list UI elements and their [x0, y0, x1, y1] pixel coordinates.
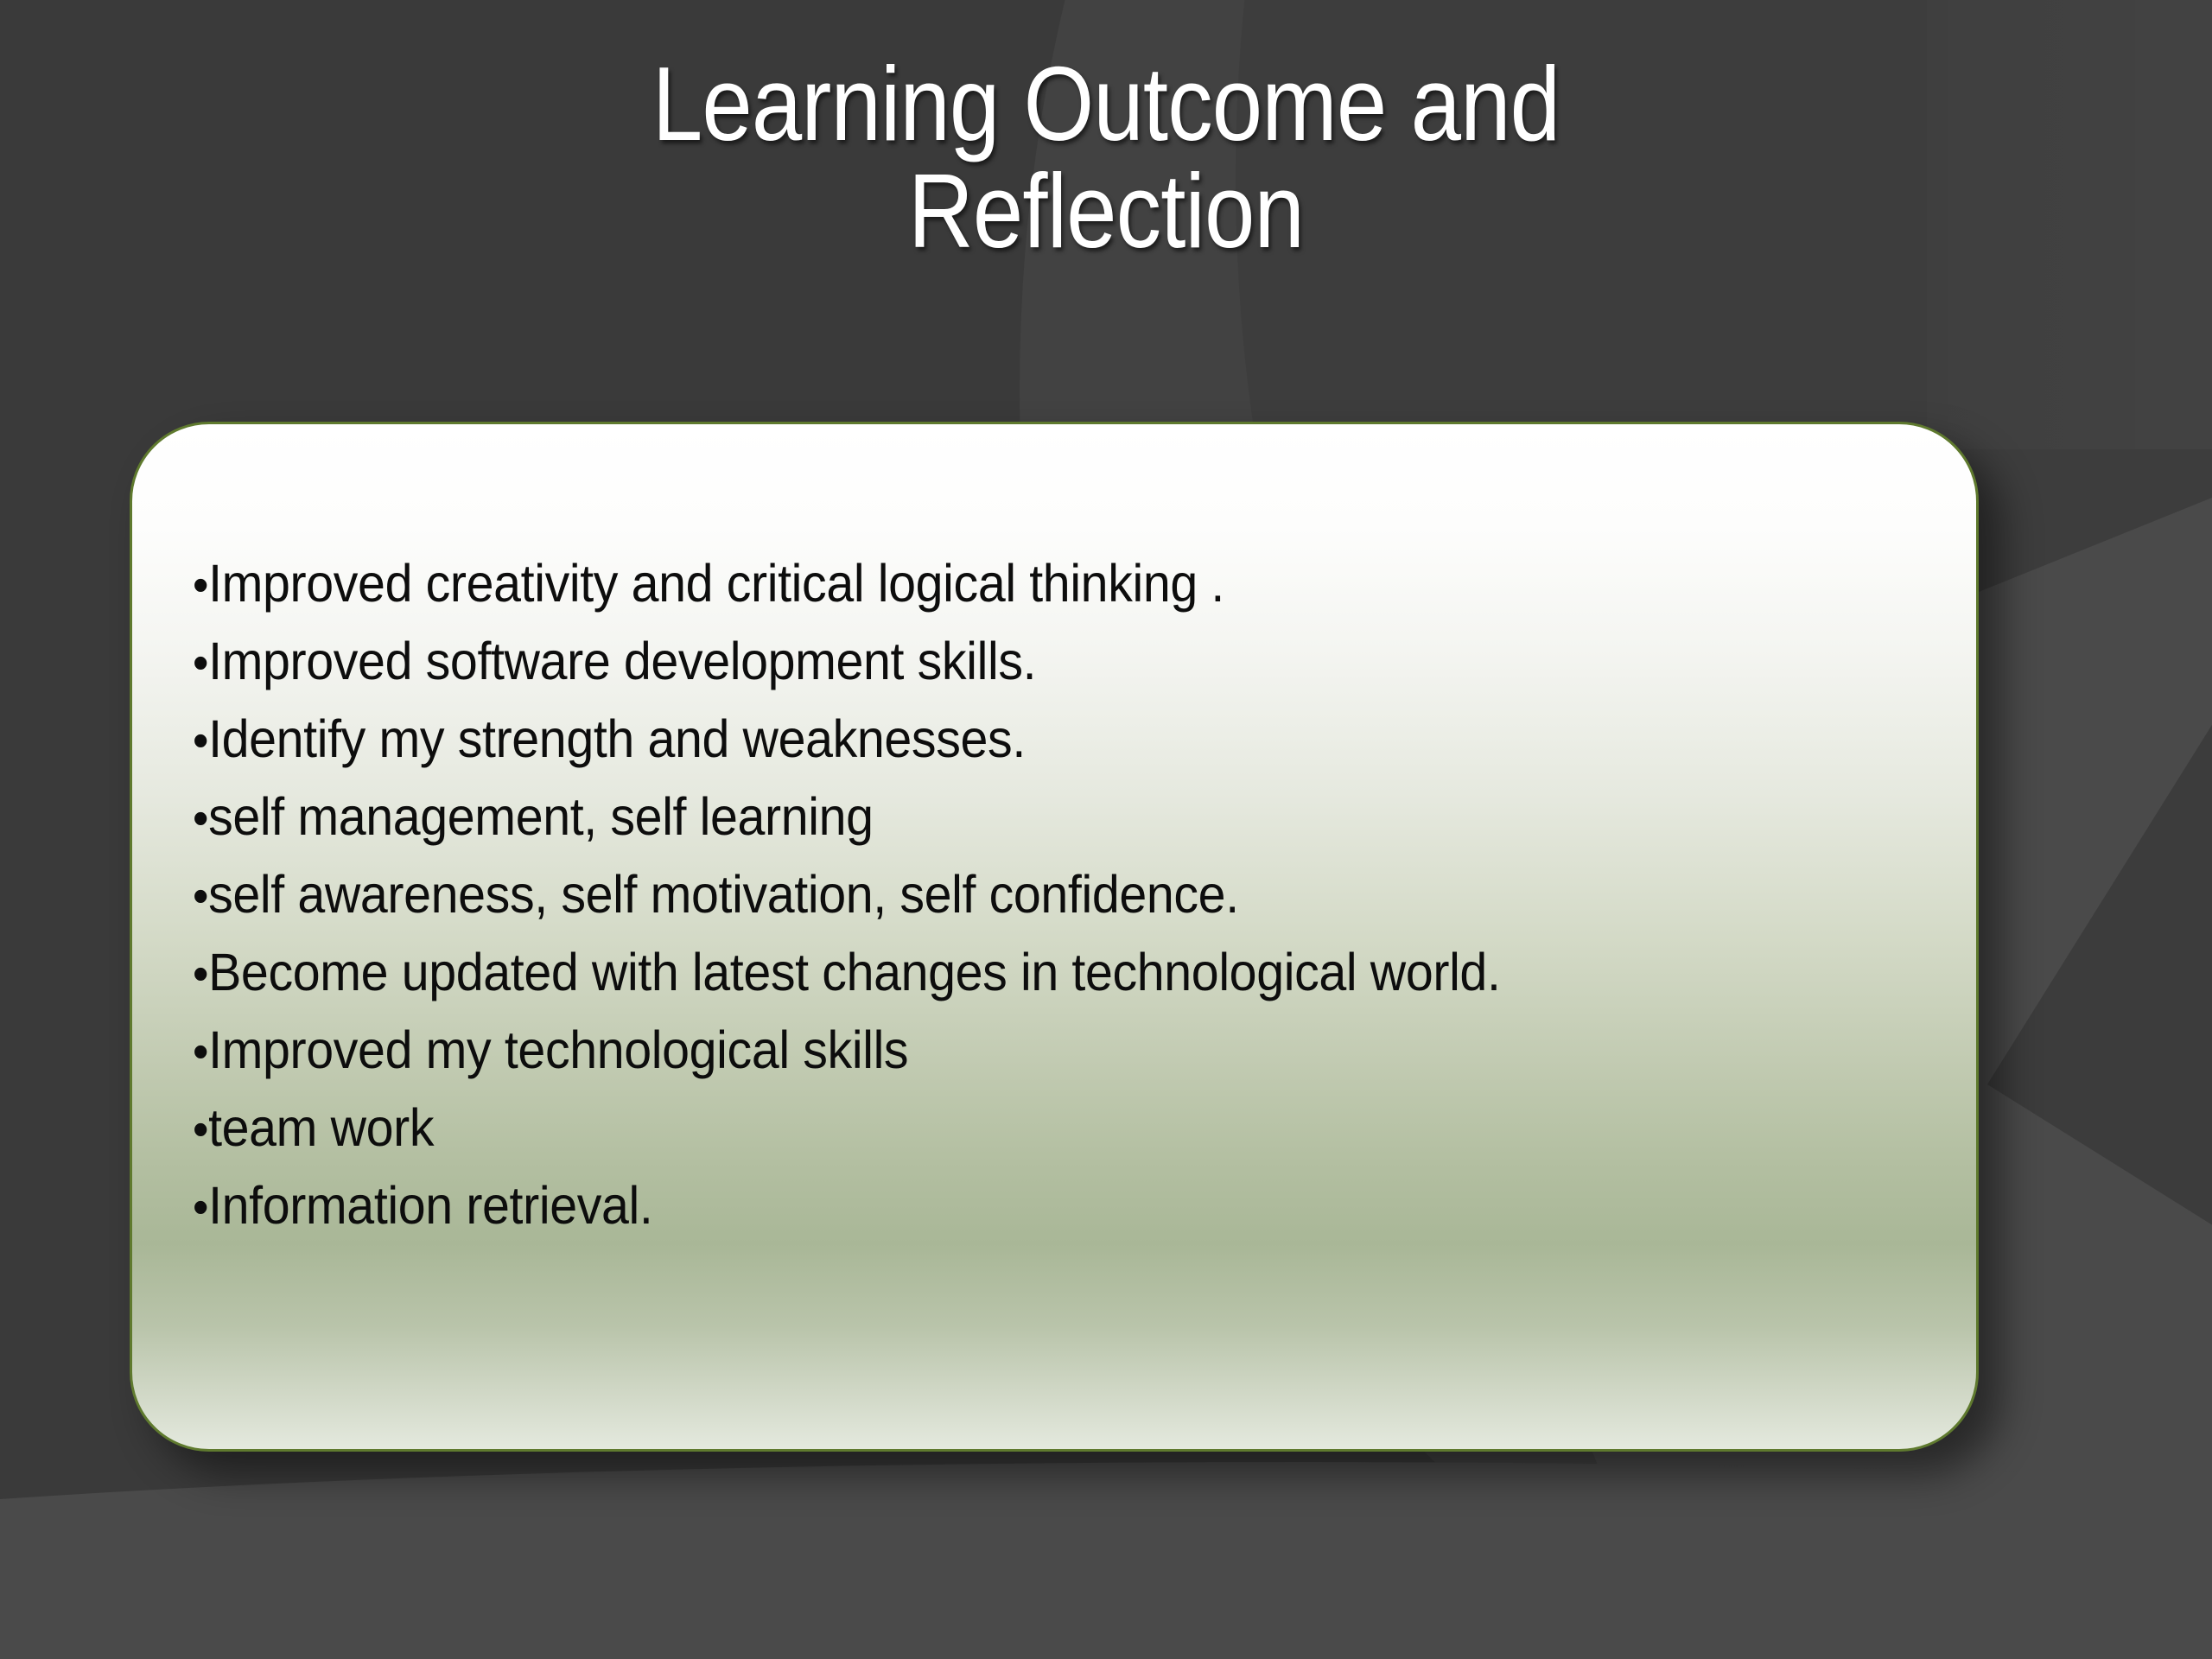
list-item-label: self awareness, self motivation, self co… — [208, 865, 1239, 924]
list-item-label: Information retrieval. — [208, 1176, 652, 1235]
list-item: •Become updated with latest changes in t… — [193, 934, 1837, 1012]
list-item: •Improved creativity and critical logica… — [193, 545, 1837, 623]
list-item: •Improved my technological skills — [193, 1012, 1837, 1090]
list-item: •Identify my strength and weaknesses. — [193, 701, 1837, 779]
background-bottom-band — [0, 1462, 2212, 1659]
list-item-label: self management, self learning — [208, 787, 874, 846]
bullet-icon: • — [193, 791, 208, 845]
list-item-label: Improved software development skills. — [208, 632, 1036, 690]
background-sliver-bottom-right — [1987, 571, 2212, 1405]
list-item: •team work — [193, 1090, 1837, 1167]
list-item: •self management, self learning — [193, 779, 1837, 856]
bullet-list: •Improved creativity and critical logica… — [193, 545, 1837, 1245]
list-item-label: team work — [208, 1098, 434, 1157]
list-item: •Information retrieval. — [193, 1167, 1837, 1245]
bullet-icon: • — [193, 557, 208, 612]
bullet-icon: • — [193, 713, 208, 767]
list-item: •Improved software development skills. — [193, 623, 1837, 701]
slide-title: Learning Outcome and Reflection — [155, 50, 2057, 265]
bullet-icon: • — [193, 946, 208, 1001]
list-item-label: Become updated with latest changes in te… — [208, 943, 1500, 1001]
list-item-label: Improved my technological skills — [208, 1020, 908, 1079]
bullet-icon: • — [193, 1102, 208, 1156]
list-item-label: Identify my strength and weaknesses. — [208, 709, 1026, 768]
bullet-icon: • — [193, 868, 208, 923]
bullet-icon: • — [193, 635, 208, 690]
presentation-slide: Learning Outcome and Reflection •Improve… — [0, 0, 2212, 1659]
list-item: •self awareness, self motivation, self c… — [193, 856, 1837, 934]
bullet-icon: • — [193, 1179, 208, 1234]
content-panel: •Improved creativity and critical logica… — [130, 422, 1979, 1452]
bullet-icon: • — [193, 1024, 208, 1078]
list-item-label: Improved creativity and critical logical… — [208, 554, 1224, 613]
